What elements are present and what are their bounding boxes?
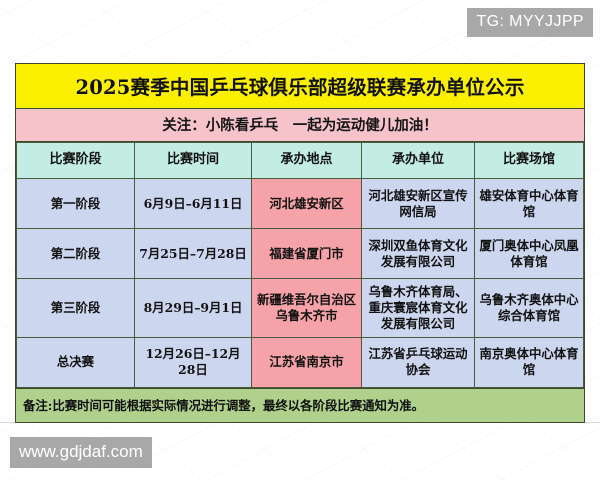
cell-organizer: 河北雄安新区宣传网信局 xyxy=(362,179,475,229)
table-row: 第三阶段 8月29日–9月1日 新疆维吾尔自治区乌鲁木齐市 乌鲁木齐体育局、重庆… xyxy=(17,279,584,338)
cell-stage: 总决赛 xyxy=(17,337,135,387)
column-header-stage: 比赛阶段 xyxy=(17,143,135,179)
cell-stage: 第三阶段 xyxy=(17,279,135,338)
site-watermark: www.gdjdaf.com xyxy=(10,437,152,468)
column-header-time: 比赛时间 xyxy=(135,143,252,179)
cell-venue: 乌鲁木齐奥体中心综合体育馆 xyxy=(475,279,584,338)
column-header-organizer: 承办单位 xyxy=(362,143,475,179)
cell-venue: 南京奥体中心体育馆 xyxy=(475,337,584,387)
cell-time: 8月29日–9月1日 xyxy=(135,279,252,338)
column-header-place: 承办地点 xyxy=(252,143,362,179)
cell-stage: 第二阶段 xyxy=(17,229,135,279)
table-row: 第二阶段 7月25日–7月28日 福建省厦门市 深圳双鱼体育文化发展有限公司 厦… xyxy=(17,229,584,279)
cell-organizer: 乌鲁木齐体育局、重庆寰宸体育文化发展有限公司 xyxy=(362,279,475,338)
announcement-poster: 2025赛季中国乒乓球俱乐部超级联赛承办单位公示 关注：小陈看乒乓 一起为运动健… xyxy=(15,63,585,423)
cell-time: 12月26日–12月28日 xyxy=(135,337,252,387)
cell-time: 6月9日–6月11日 xyxy=(135,179,252,229)
cell-stage: 第一阶段 xyxy=(17,179,135,229)
cell-organizer: 江苏省乒乓球运动协会 xyxy=(362,337,475,387)
poster-title: 2025赛季中国乒乓球俱乐部超级联赛承办单位公示 xyxy=(16,64,584,109)
cell-venue: 厦门奥体中心凤凰体育馆 xyxy=(475,229,584,279)
table-row: 第一阶段 6月9日–6月11日 河北雄安新区 河北雄安新区宣传网信局 雄安体育中… xyxy=(17,179,584,229)
cell-venue: 雄安体育中心体育馆 xyxy=(475,179,584,229)
cell-place: 福建省厦门市 xyxy=(252,229,362,279)
schedule-table: 比赛阶段 比赛时间 承办地点 承办单位 比赛场馆 第一阶段 6月9日–6月11日… xyxy=(16,142,584,388)
table-row: 总决赛 12月26日–12月28日 江苏省南京市 江苏省乒乓球运动协会 南京奥体… xyxy=(17,337,584,387)
column-header-venue: 比赛场馆 xyxy=(475,143,584,179)
poster-subtitle: 关注：小陈看乒乓 一起为运动健儿加油！ xyxy=(16,109,584,142)
cell-place: 河北雄安新区 xyxy=(252,179,362,229)
cell-organizer: 深圳双鱼体育文化发展有限公司 xyxy=(362,229,475,279)
channel-watermark: TG: MYYJJPP xyxy=(467,8,593,37)
cell-place: 江苏省南京市 xyxy=(252,337,362,387)
cell-place: 新疆维吾尔自治区乌鲁木齐市 xyxy=(252,279,362,338)
cell-time: 7月25日–7月28日 xyxy=(135,229,252,279)
table-header-row: 比赛阶段 比赛时间 承办地点 承办单位 比赛场馆 xyxy=(17,143,584,179)
poster-note: 备注:比赛时间可能根据实际情况进行调整，最终以各阶段比赛通知为准。 xyxy=(16,388,584,422)
